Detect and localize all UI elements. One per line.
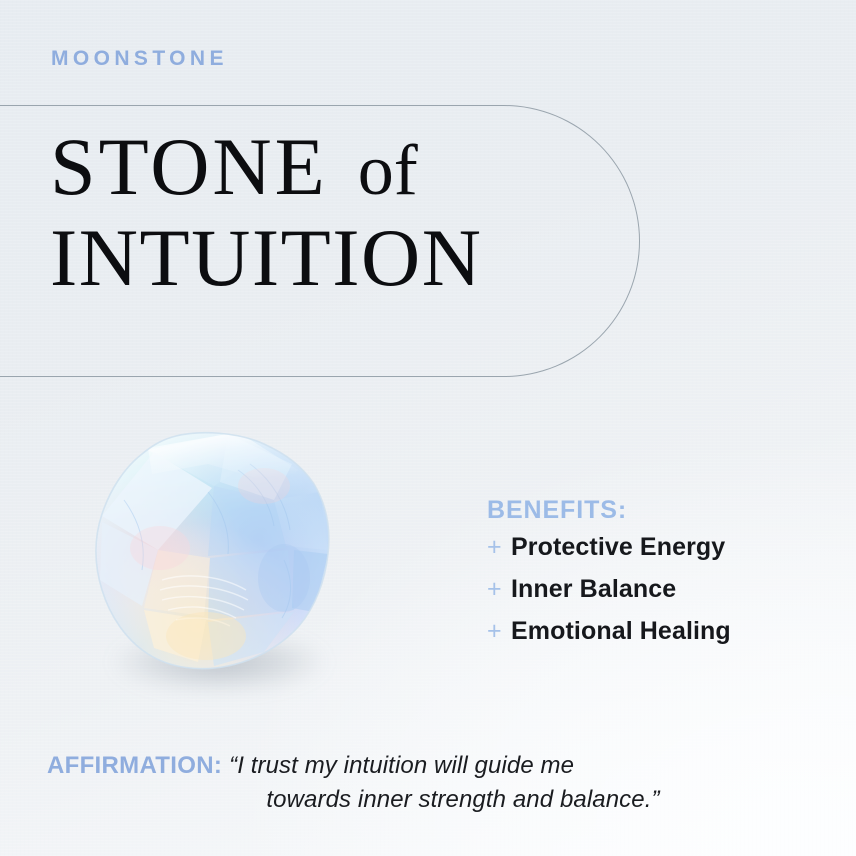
list-item: + Inner Balance (487, 577, 817, 615)
benefits-heading: BENEFITS: (487, 498, 817, 523)
benefit-label: Protective Energy (511, 535, 725, 560)
moonstone-image (82, 424, 352, 714)
list-item: + Protective Energy (487, 535, 817, 573)
affirmation-quote-line-two: towards inner strength and balance.” (47, 782, 819, 816)
title-line-two: INTUITION (50, 219, 610, 298)
plus-icon: + (487, 619, 511, 644)
title-word-stone: STONE (50, 121, 328, 212)
page-title: STONEof INTUITION (50, 128, 610, 297)
benefit-label: Emotional Healing (511, 619, 731, 644)
benefits-section: BENEFITS: + Protective Energy + Inner Ba… (487, 498, 817, 657)
affirmation-quote-line-one: “I trust my intuition will guide me (222, 750, 574, 782)
affirmation-section: AFFIRMATION: “I trust my intuition will … (47, 750, 819, 817)
moonstone-card: MOONSTONE STONEof INTUITION (0, 0, 856, 856)
affirmation-heading: AFFIRMATION: (47, 750, 222, 782)
title-word-of: of (328, 130, 418, 210)
plus-icon: + (487, 577, 511, 602)
plus-icon: + (487, 535, 511, 560)
benefit-label: Inner Balance (511, 577, 676, 602)
affirmation-line-one: AFFIRMATION: “I trust my intuition will … (47, 750, 819, 782)
moonstone-graphic (88, 430, 338, 675)
category-label: MOONSTONE (51, 48, 228, 69)
title-line-one: STONEof (50, 128, 610, 207)
list-item: + Emotional Healing (487, 619, 817, 657)
